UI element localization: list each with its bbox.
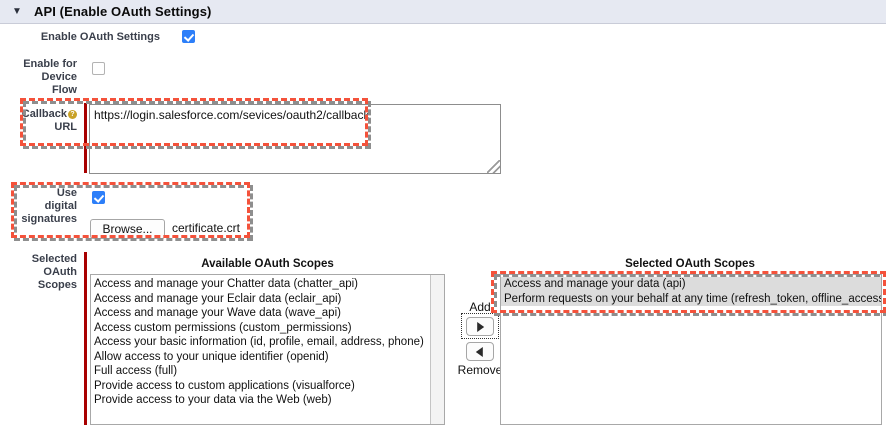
callback-url-input[interactable]	[89, 104, 501, 174]
callback-url-label-line1: Callback?	[10, 108, 77, 121]
list-item[interactable]: Access and manage your Chatter data (cha…	[91, 277, 444, 292]
available-scopes-title: Available OAuth Scopes	[90, 258, 445, 270]
selected-scopes-title: Selected OAuth Scopes	[500, 258, 880, 270]
enable-oauth-settings-checkbox[interactable]	[182, 30, 195, 43]
add-button[interactable]	[466, 317, 494, 336]
arrow-left-icon	[476, 347, 483, 357]
list-item[interactable]: Access and manage your Eclair data (ecla…	[91, 292, 444, 307]
remove-button[interactable]	[466, 342, 494, 361]
triangle-down-icon[interactable]: ▼	[0, 7, 34, 17]
device-flow-label-line3: Flow	[10, 84, 77, 97]
device-flow-label-line2: Device	[10, 71, 77, 84]
list-item[interactable]: Access your basic information (id, profi…	[91, 335, 444, 350]
callback-url-label-line2: URL	[10, 121, 77, 134]
available-scopes-options: Access and manage your Chatter data (cha…	[91, 275, 444, 408]
help-circle-icon[interactable]: ?	[68, 110, 77, 119]
digital-signatures-label-line1: Use	[10, 187, 77, 200]
list-item[interactable]: Provide access to custom applications (v…	[91, 379, 444, 394]
callback-url-required-indicator	[84, 103, 87, 173]
list-item[interactable]: Allow access to your unique identifier (…	[91, 350, 444, 365]
scopes-label-line2: OAuth	[10, 266, 77, 279]
list-item[interactable]: Access custom permissions (custom_permis…	[91, 321, 444, 336]
selected-scopes-options: Access and manage your data (api)Perform…	[501, 275, 881, 306]
enable-oauth-settings-label: Enable OAuth Settings	[20, 31, 160, 44]
device-flow-label-line1: Enable for	[10, 58, 77, 71]
list-item[interactable]: Access and manage your Wave data (wave_a…	[91, 306, 444, 321]
list-item[interactable]: Access and manage your data (api)	[501, 277, 881, 292]
digital-signatures-label-line3: signatures	[10, 213, 77, 226]
list-item[interactable]: Perform requests on your behalf at any t…	[501, 292, 881, 307]
section-header: ▼ API (Enable OAuth Settings)	[0, 0, 886, 24]
oauth-settings-page: ▼ API (Enable OAuth Settings) Enable OAu…	[0, 0, 886, 428]
available-scopes-scrollbar[interactable]	[430, 275, 444, 424]
selected-scopes-listbox[interactable]: Access and manage your data (api)Perform…	[500, 274, 882, 425]
list-item[interactable]: Provide access to your data via the Web …	[91, 393, 444, 408]
available-scopes-listbox[interactable]: Access and manage your Chatter data (cha…	[90, 274, 445, 425]
callback-url-label-text: Callback	[22, 108, 67, 120]
browse-button[interactable]: Browse...	[90, 219, 165, 239]
scopes-label-line3: Scopes	[10, 279, 77, 292]
scopes-required-indicator	[84, 252, 87, 425]
page-title: API (Enable OAuth Settings)	[34, 4, 211, 19]
certificate-file-name: certificate.crt	[172, 221, 240, 235]
scopes-label-line1: Selected	[10, 253, 77, 266]
device-flow-checkbox[interactable]	[92, 62, 105, 75]
arrow-right-icon	[477, 322, 484, 332]
list-item[interactable]: Full access (full)	[91, 364, 444, 379]
digital-signatures-checkbox[interactable]	[92, 191, 105, 204]
digital-signatures-label-line2: digital	[10, 200, 77, 213]
